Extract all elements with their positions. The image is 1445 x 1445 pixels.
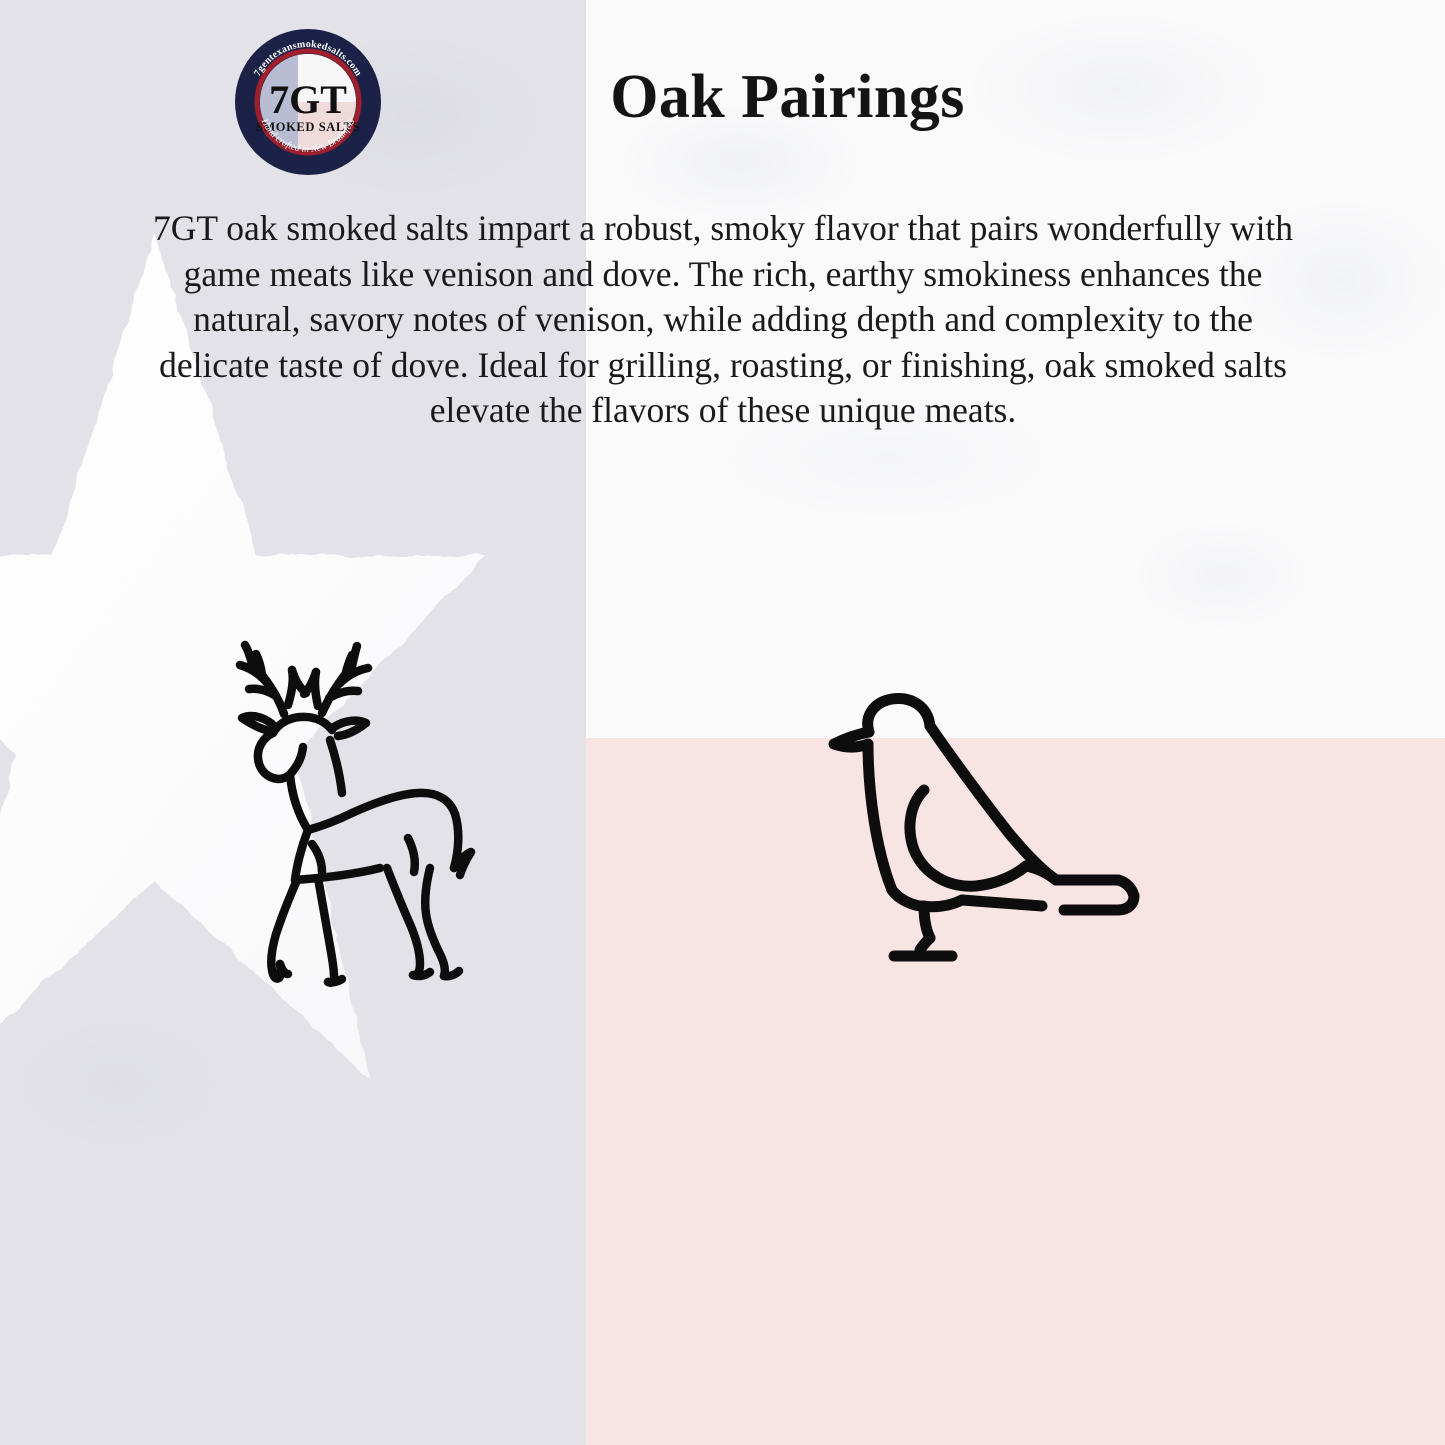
deer-illustration (212, 628, 512, 1013)
dove-illustration (812, 684, 1182, 994)
page-title: Oak Pairings (0, 62, 1445, 133)
body-paragraph: 7GT oak smoked salts impart a robust, sm… (148, 206, 1298, 434)
poster-canvas: 7GT SMOKED SALTS 7gentexansmokedsalts.co… (0, 0, 1445, 1445)
